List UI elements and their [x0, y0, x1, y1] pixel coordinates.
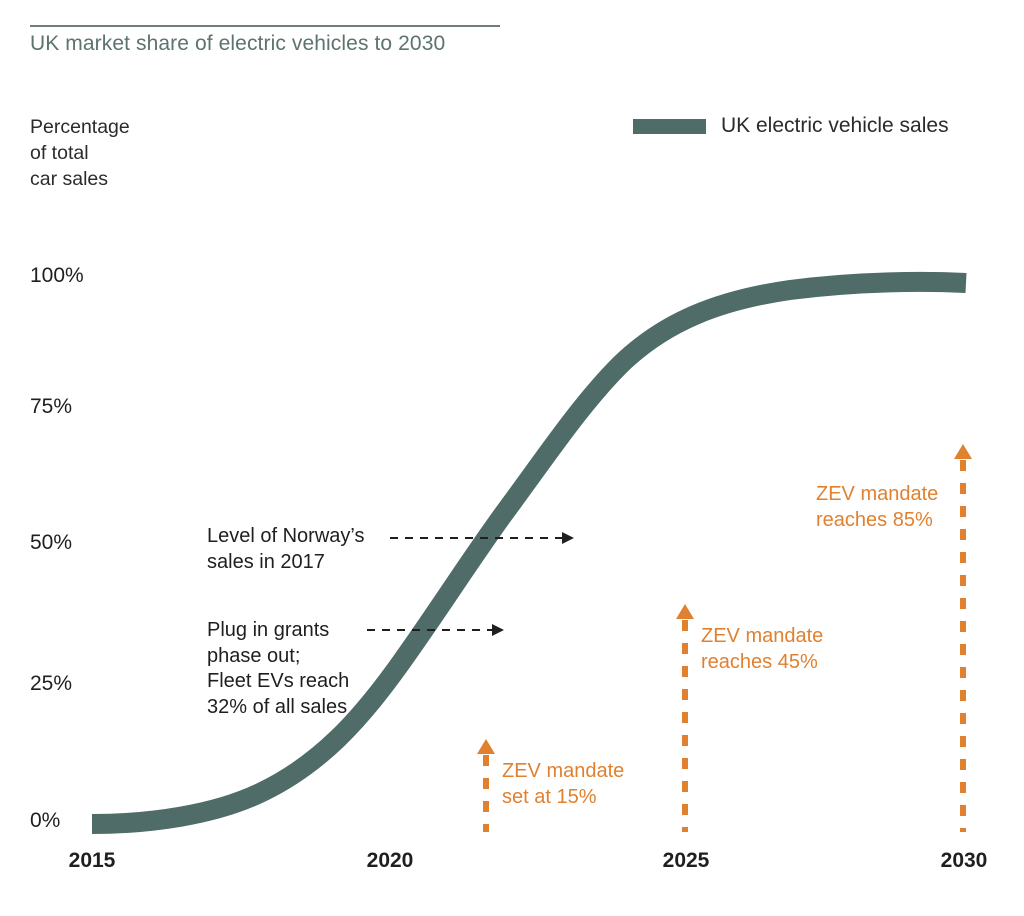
callout-plug-in-grants-line-4: 32% of all sales: [207, 695, 349, 721]
label-zev-45-line-2: reaches 45%: [701, 649, 823, 675]
label-zev-85-line-1: ZEV mandate: [816, 481, 938, 507]
label-zev-85-line-2: reaches 85%: [816, 507, 938, 533]
callout-norway-line-1: Level of Norway’s: [207, 524, 364, 550]
chart-container: UK market share of electric vehicles to …: [0, 0, 1024, 916]
marker-zev-85-arrowhead: [954, 444, 972, 459]
label-zev-45-line-1: ZEV mandate: [701, 623, 823, 649]
marker-zev-85: [954, 444, 972, 832]
label-zev-15-line-1: ZEV mandate: [502, 758, 624, 784]
label-zev-85: ZEV mandatereaches 85%: [816, 481, 938, 533]
label-zev-15: ZEV mandateset at 15%: [502, 758, 624, 810]
callout-plug-in-grants-line-1: Plug in grants: [207, 618, 349, 644]
marker-zev-15-arrowhead: [477, 739, 495, 754]
callout-norway-line-2: sales in 2017: [207, 550, 364, 576]
callout-norway: Level of Norway’ssales in 2017: [207, 524, 364, 575]
callout-plug-in-grants-line-2: phase out;: [207, 644, 349, 670]
callout-plug-in-grants-line-3: Fleet EVs reach: [207, 669, 349, 695]
label-zev-15-line-2: set at 15%: [502, 784, 624, 810]
marker-zev-15: [477, 739, 495, 832]
marker-zev-45: [676, 604, 694, 832]
marker-zev-45-arrowhead: [676, 604, 694, 619]
callout-plug-in-grants: Plug in grantsphase out;Fleet EVs reach3…: [207, 618, 349, 720]
label-zev-45: ZEV mandatereaches 45%: [701, 623, 823, 675]
